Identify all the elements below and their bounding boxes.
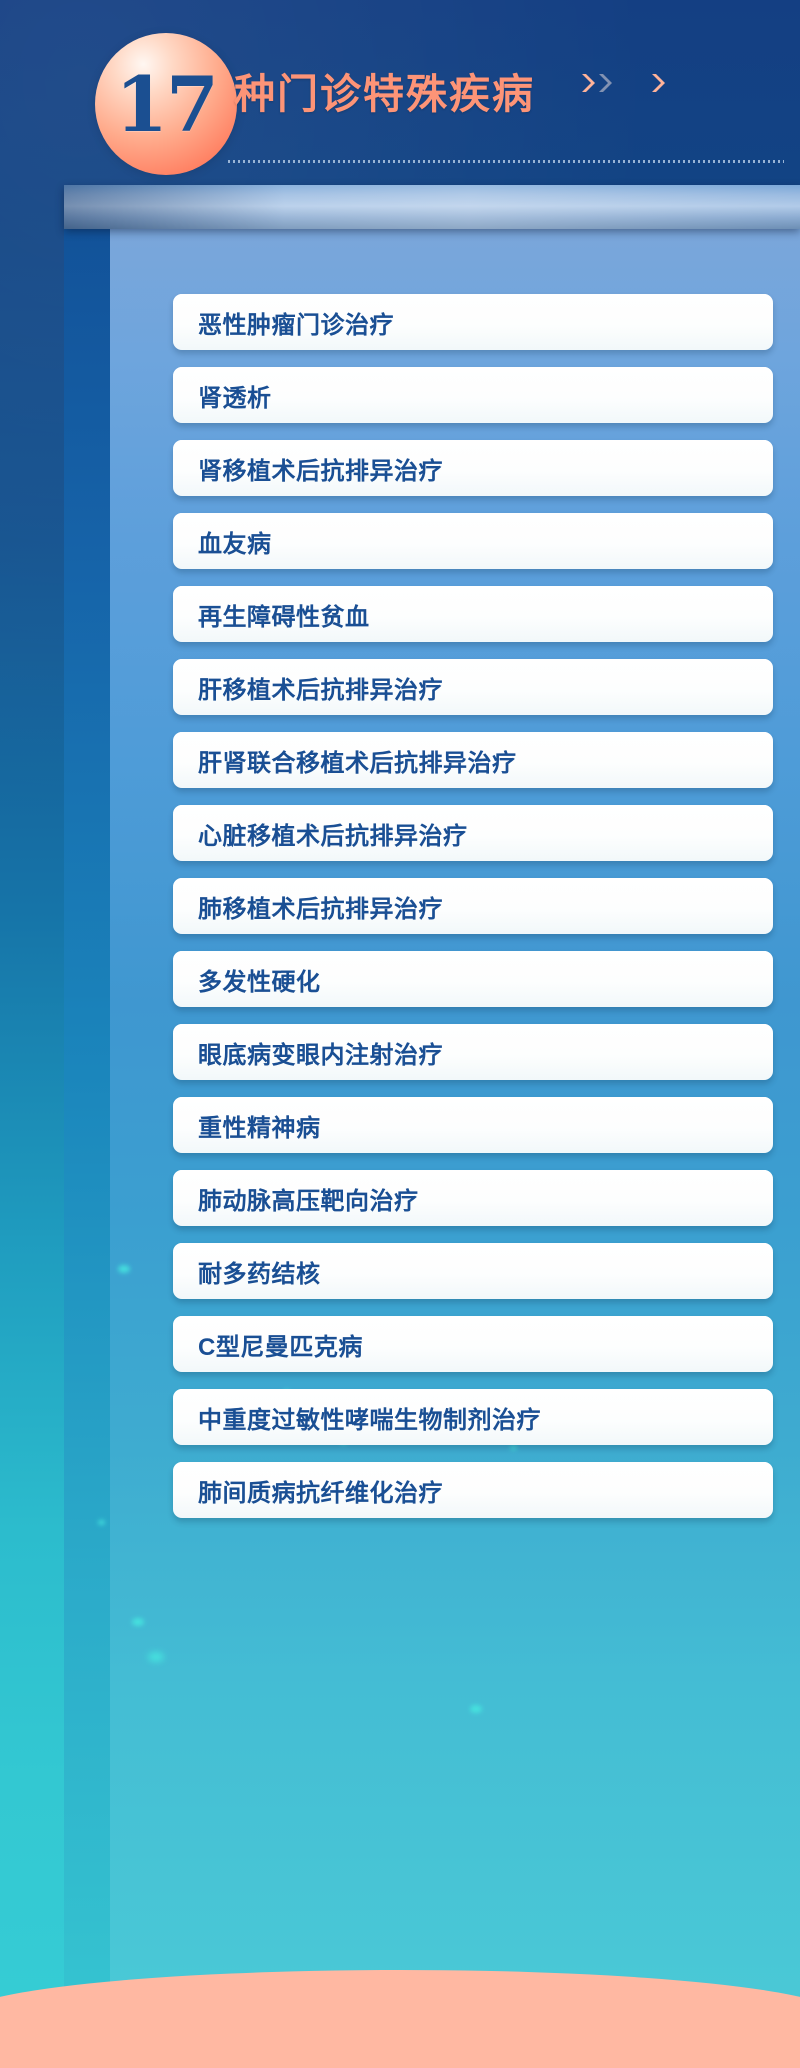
disease-card-label: 多发性硬化: [173, 962, 321, 997]
disease-card[interactable]: C型尼曼匹克病: [173, 1316, 773, 1372]
disease-card-label: 肾透析: [173, 378, 272, 413]
disease-card-list: 恶性肿瘤门诊治疗肾透析肾移植术后抗排异治疗血友病再生障碍性贫血肝移植术后抗排异治…: [173, 294, 773, 1535]
dotted-divider: [228, 160, 784, 163]
glow-particle: [148, 1652, 164, 1662]
page-title: 种门诊特殊疾病: [234, 60, 535, 120]
chevron-right-icon: [650, 72, 665, 94]
disease-card[interactable]: 再生障碍性贫血: [173, 586, 773, 642]
chevron-right-icon-secondary: [597, 72, 612, 94]
disease-card[interactable]: 肾透析: [173, 367, 773, 423]
disease-card[interactable]: 中重度过敏性哮喘生物制剂治疗: [173, 1389, 773, 1445]
panel-top-bar-shine: [64, 185, 800, 229]
poster-root: 17 种门诊特殊疾病 恶性肿瘤门诊治疗肾透析肾移植术后抗排异治疗血友病再生障碍性: [0, 0, 800, 2068]
chevron-right-icon-primary: [580, 72, 595, 94]
disease-card[interactable]: 耐多药结核: [173, 1243, 773, 1299]
disease-card[interactable]: 血友病: [173, 513, 773, 569]
disease-card[interactable]: 重性精神病: [173, 1097, 773, 1153]
disease-card[interactable]: 肺动脉高压靶向治疗: [173, 1170, 773, 1226]
disease-card-label: C型尼曼匹克病: [173, 1327, 363, 1362]
chevron-double-right-icon: [580, 72, 612, 94]
panel-top-bar: [64, 185, 800, 229]
disease-card-label: 肝移植术后抗排异治疗: [173, 670, 443, 705]
disease-card-label: 肝肾联合移植术后抗排异治疗: [173, 743, 517, 778]
disease-card-label: 血友病: [173, 524, 272, 559]
disease-card-label: 耐多药结核: [173, 1254, 321, 1289]
glow-particle: [118, 1265, 130, 1273]
disease-card[interactable]: 肺间质病抗纤维化治疗: [173, 1462, 773, 1518]
disease-card-label: 心脏移植术后抗排异治疗: [173, 816, 468, 851]
disease-card-label: 肺移植术后抗排异治疗: [173, 889, 443, 924]
disease-card-label: 中重度过敏性哮喘生物制剂治疗: [173, 1400, 541, 1435]
bottom-decorative-band: [0, 1970, 800, 2068]
disease-card-label: 恶性肿瘤门诊治疗: [173, 305, 394, 340]
header: 17 种门诊特殊疾病: [0, 0, 800, 186]
disease-card-label: 再生障碍性贫血: [173, 597, 370, 632]
disease-card[interactable]: 肾移植术后抗排异治疗: [173, 440, 773, 496]
disease-card-label: 肾移植术后抗排异治疗: [173, 451, 443, 486]
disease-card[interactable]: 心脏移植术后抗排异治疗: [173, 805, 773, 861]
panel-left-rail: [64, 213, 112, 2011]
glow-particle: [470, 1705, 482, 1713]
disease-card-label: 肺间质病抗纤维化治疗: [173, 1473, 443, 1508]
disease-card-label: 肺动脉高压靶向治疗: [173, 1181, 419, 1216]
disease-card[interactable]: 眼底病变眼内注射治疗: [173, 1024, 773, 1080]
disease-card[interactable]: 肝移植术后抗排异治疗: [173, 659, 773, 715]
count-badge: 17: [95, 33, 237, 175]
count-badge-number: 17: [95, 33, 237, 175]
disease-card[interactable]: 肺移植术后抗排异治疗: [173, 878, 773, 934]
disease-card-label: 重性精神病: [173, 1108, 321, 1143]
chevron-right-icon-single: [650, 72, 665, 94]
disease-card[interactable]: 多发性硬化: [173, 951, 773, 1007]
disease-card[interactable]: 肝肾联合移植术后抗排异治疗: [173, 732, 773, 788]
glow-particle: [98, 1520, 105, 1525]
disease-card-label: 眼底病变眼内注射治疗: [173, 1035, 443, 1070]
disease-card[interactable]: 恶性肿瘤门诊治疗: [173, 294, 773, 350]
glow-particle: [132, 1618, 144, 1626]
